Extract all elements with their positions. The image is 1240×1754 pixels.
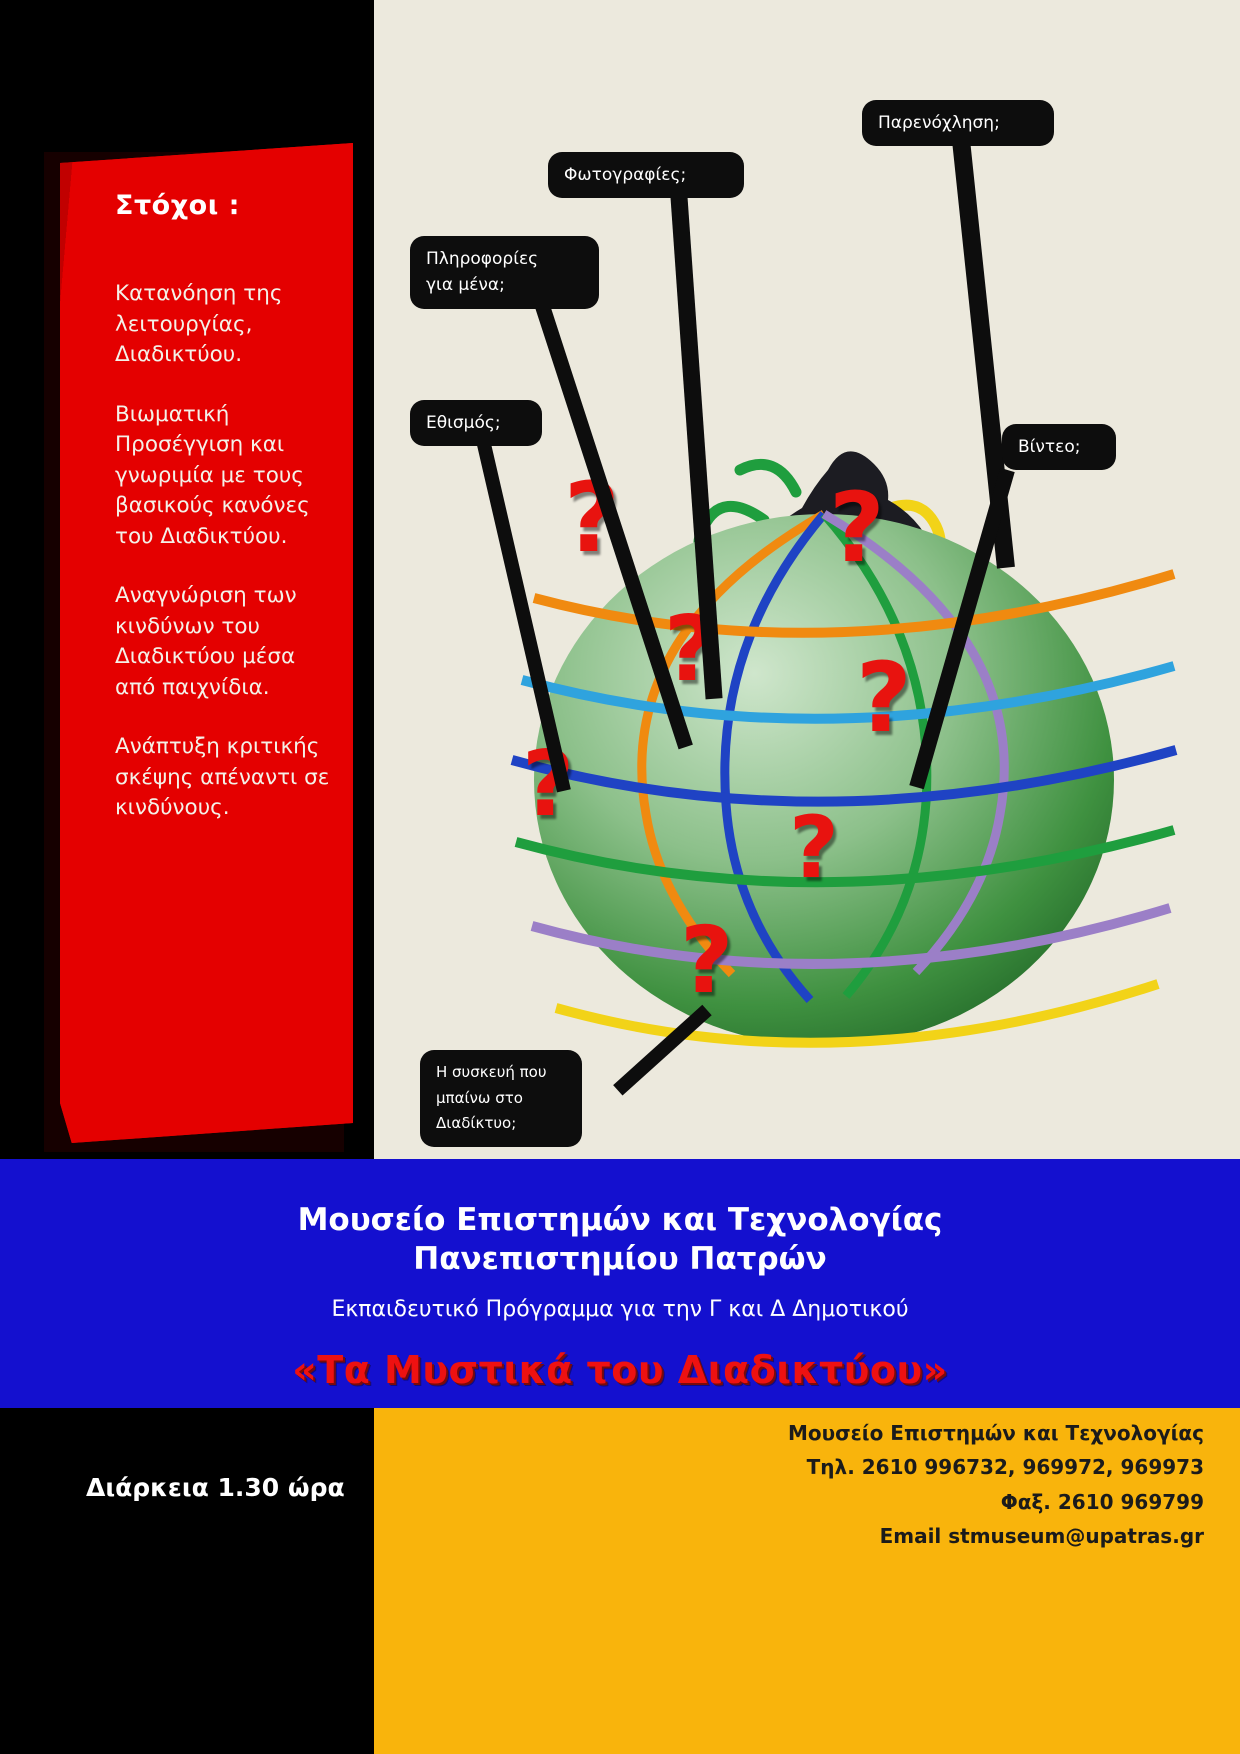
callout-ethismos[interactable]: Εθισμός;	[410, 400, 542, 446]
objective-item: Κατανόηση της λειτουργίας, Διαδικτύου.	[115, 279, 330, 371]
organization-name-line1: Μουσείο Επιστημών και Τεχνολογίας	[0, 1159, 1240, 1240]
program-title: «Τα Μυστικά του Διαδικτύου»	[0, 1348, 1240, 1392]
callout-syskevi[interactable]: Η συσκευή που μπαίνω στο Διαδίκτυο;	[420, 1050, 582, 1147]
question-mark-icon: ?	[856, 650, 912, 746]
organization-name-line2: Πανεπιστημίου Πατρών	[0, 1240, 1240, 1279]
contact-panel: Μουσείο Επιστημών και Τεχνολογίας Τηλ. 2…	[374, 1408, 1240, 1754]
callout-vinteo[interactable]: Βίντεο;	[1002, 424, 1116, 470]
objectives-title: Στόχοι :	[115, 190, 330, 221]
question-mark-icon: ?	[829, 480, 885, 576]
objective-item: Βιωματική Προσέγγιση και γνωριμία με του…	[115, 400, 330, 553]
globe-illustration	[404, 430, 1144, 1110]
poster-root: ? ? ? ? ? ? ? Παρενόχληση; Φωτογραφίες; …	[0, 0, 1240, 1754]
program-subtitle: Εκπαιδευτικό Πρόγραμμα για την Γ και Δ Δ…	[0, 1297, 1240, 1322]
contact-email[interactable]: Email stmuseum@upatras.gr	[788, 1519, 1204, 1553]
question-mark-icon: ?	[789, 805, 839, 891]
callout-parenochlisi[interactable]: Παρενόχληση;	[862, 100, 1054, 146]
duration-label: Διάρκεια 1.30 ώρα	[86, 1473, 345, 1502]
contact-name: Μουσείο Επιστημών και Τεχνολογίας	[788, 1416, 1204, 1450]
contact-fax: Φαξ. 2610 969799	[788, 1485, 1204, 1519]
question-mark-icon: ?	[680, 915, 733, 1007]
organization-band: Μουσείο Επιστημών και Τεχνολογίας Πανεπι…	[0, 1159, 1240, 1408]
contact-phone: Τηλ. 2610 996732, 969972, 969973	[788, 1450, 1204, 1484]
duration-panel	[0, 1408, 374, 1754]
callout-plirofories[interactable]: Πληροφορίες για μένα;	[410, 236, 599, 309]
objectives-content: Στόχοι : Κατανόηση της λειτουργίας, Διαδ…	[115, 190, 330, 853]
callout-fotografies[interactable]: Φωτογραφίες;	[548, 152, 744, 198]
objective-item: Ανάπτυξη κριτικής σκέψης απέναντι σε κιν…	[115, 732, 330, 824]
objective-item: Αναγνώριση των κινδύνων του Διαδικτύου μ…	[115, 581, 330, 703]
artwork-panel: ? ? ? ? ? ? ?	[374, 0, 1240, 1159]
contact-details: Μουσείο Επιστημών και Τεχνολογίας Τηλ. 2…	[788, 1416, 1204, 1554]
